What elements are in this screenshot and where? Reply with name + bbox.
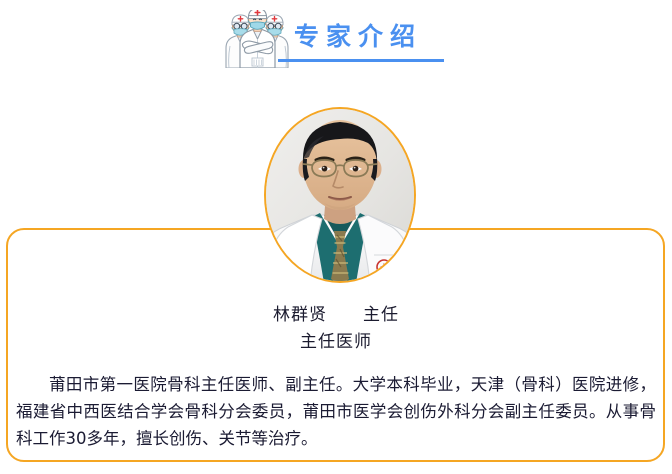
doctor-bio-paragraph: 莆田市第一医院骨科主任医师、副主任。大学本科毕业，天津（骨科）医院进修，福建省中… (16, 371, 656, 452)
title-underline (278, 59, 444, 62)
header-inner: 专家介绍 (224, 8, 454, 70)
header-band: 专家介绍 (0, 0, 672, 86)
doctor-bio: 莆田市第一医院骨科主任医师、副主任。大学本科毕业，天津（骨科）医院进修，福建省中… (16, 371, 656, 452)
doctor-name-line: 林群贤 主任 (0, 303, 672, 327)
portrait-frame (264, 107, 416, 283)
doctor-title-line: 主任医师 (0, 330, 672, 354)
portrait-photo (264, 107, 416, 283)
page-title: 专家介绍 (294, 22, 422, 52)
doctor-portrait (264, 107, 416, 283)
